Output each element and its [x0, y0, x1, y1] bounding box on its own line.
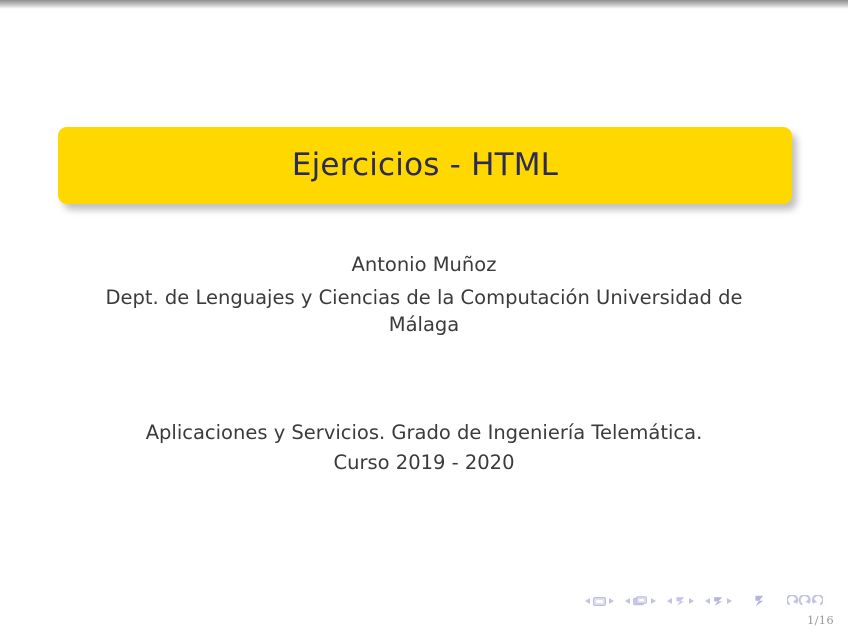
subsection-icon[interactable]	[675, 596, 686, 607]
subsection-navigation-group[interactable]	[667, 596, 694, 607]
author-block: Antonio Muñoz Dept. de Lenguajes y Cienc…	[0, 251, 848, 338]
presentation-navigation-group[interactable]	[754, 595, 765, 607]
title-banner-surface: Ejercicios - HTML	[58, 127, 792, 204]
slide-icon[interactable]	[593, 597, 606, 606]
title-banner: Ejercicios - HTML	[58, 127, 792, 204]
next-subsection-arrow-icon[interactable]	[689, 598, 694, 604]
author-affiliation: Dept. de Lenguajes y Ciencias de la Comp…	[79, 284, 769, 338]
frame-icon[interactable]	[633, 596, 648, 606]
next-slide-arrow-icon[interactable]	[609, 598, 614, 604]
next-frame-arrow-icon[interactable]	[651, 598, 656, 604]
section-navigation-group[interactable]	[705, 596, 732, 607]
course-block: Aplicaciones y Servicios. Grado de Ingen…	[0, 418, 848, 478]
previous-slide-arrow-icon[interactable]	[585, 598, 590, 604]
next-section-arrow-icon[interactable]	[727, 598, 732, 604]
viewer-top-edge	[0, 0, 848, 9]
back-arrows-icon[interactable]	[787, 595, 823, 607]
course-title: Aplicaciones y Servicios. Grado de Ingen…	[0, 418, 848, 448]
presentation-slide: Ejercicios - HTML Antonio Muñoz Dept. de…	[0, 9, 848, 635]
previous-section-arrow-icon[interactable]	[705, 598, 710, 604]
section-icon[interactable]	[713, 596, 724, 607]
page-number: 1/16	[807, 613, 834, 627]
slide-title: Ejercicios - HTML	[292, 150, 558, 181]
beamer-navigation-bar[interactable]	[585, 593, 834, 609]
frame-navigation-group[interactable]	[625, 596, 656, 606]
author-name: Antonio Muñoz	[0, 251, 848, 278]
back-navigation-group[interactable]	[787, 595, 823, 607]
document-icon[interactable]	[754, 595, 765, 607]
slide-navigation-group[interactable]	[585, 597, 614, 606]
academic-year: Curso 2019 - 2020	[0, 448, 848, 478]
previous-subsection-arrow-icon[interactable]	[667, 598, 672, 604]
previous-frame-arrow-icon[interactable]	[625, 598, 630, 604]
